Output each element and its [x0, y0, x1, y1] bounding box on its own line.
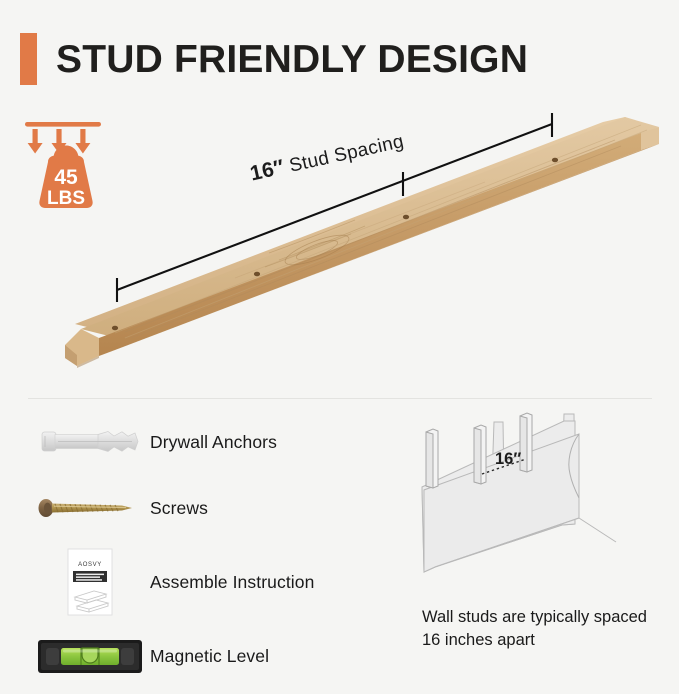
list-item-label: Drywall Anchors [150, 432, 277, 453]
mounting-hole [112, 326, 118, 331]
list-item-label: Magnetic Level [150, 646, 269, 667]
list-item: Screws [30, 480, 390, 536]
list-item: Magnetic Level [30, 628, 390, 684]
accessory-list: Drywall Anchors [30, 414, 390, 694]
infographic-page: STUD FRIENDLY DESIGN 45 LBS [0, 0, 679, 679]
list-item-label: Screws [150, 498, 208, 519]
page-header: STUD FRIENDLY DESIGN [20, 28, 640, 90]
section-divider [28, 398, 652, 399]
magnetic-level-icon [30, 635, 150, 677]
drywall-anchor-icon [30, 425, 150, 459]
stud-diagram-dimension: 16″ [495, 450, 521, 469]
accent-bar [20, 33, 37, 85]
svg-text:AOSVY: AOSVY [78, 562, 102, 568]
instruction-booklet-icon: AOSVY [30, 547, 150, 617]
wall-studs-diagram [404, 412, 660, 597]
screw-icon [30, 495, 150, 521]
mounting-hole [552, 158, 558, 163]
mounting-hole [254, 272, 260, 277]
list-item-label: Assemble Instruction [150, 572, 314, 593]
mounting-hole [403, 215, 409, 220]
wall-studs-line-drawing [404, 412, 660, 597]
page-title: STUD FRIENDLY DESIGN [56, 40, 528, 79]
list-item: Drywall Anchors [30, 414, 390, 470]
list-item: AOSVY [30, 546, 390, 618]
stud-diagram-caption: Wall studs are typically spaced 16 inche… [422, 606, 652, 653]
